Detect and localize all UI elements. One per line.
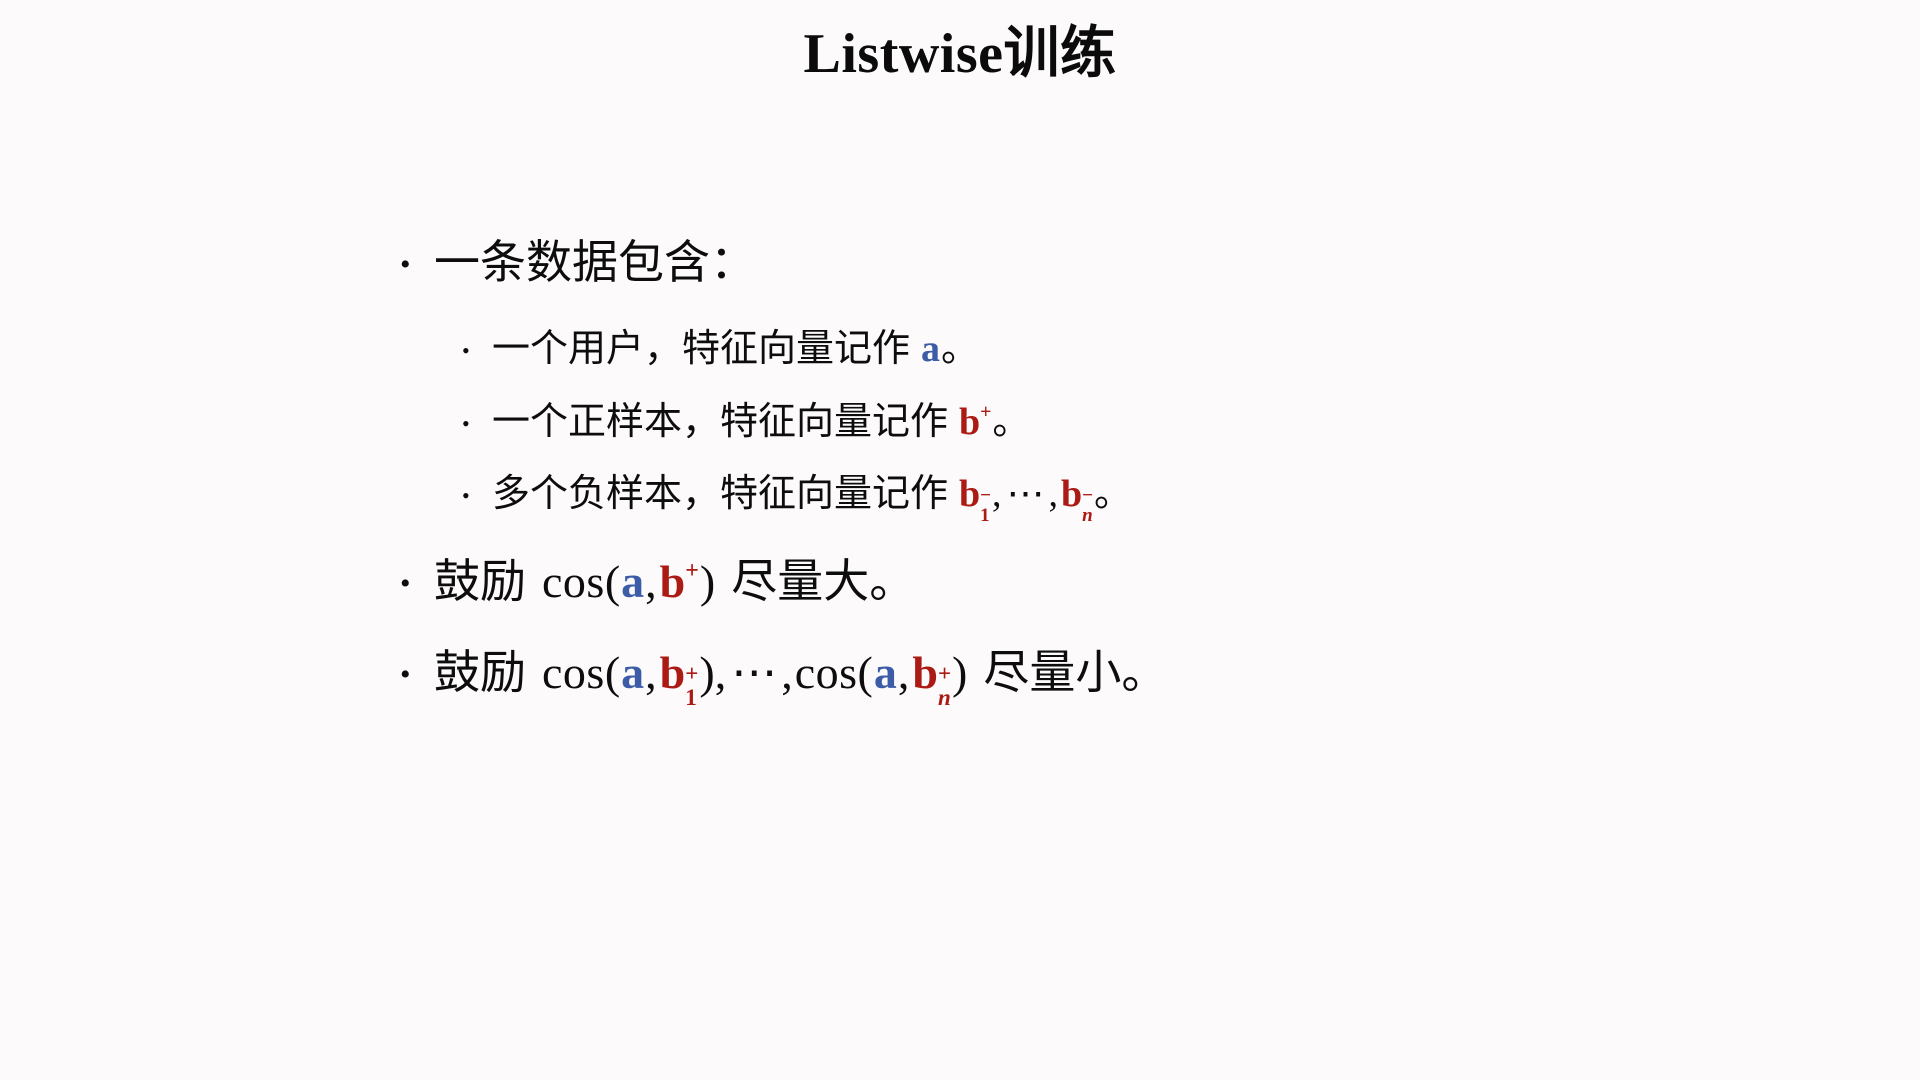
cos-function-label: cos bbox=[542, 647, 605, 698]
cos-function-label: cos bbox=[542, 556, 605, 607]
vector-b-positive-symbol: b+ bbox=[958, 401, 992, 443]
bullet-text: 一个正样本，特征向量记作b+。 bbox=[492, 397, 1030, 448]
sub-bullet-1-suffix: 。 bbox=[941, 328, 979, 370]
slide-root: Listwise训练 • 一条数据包含： • 一个用户，特征向量记作a。 • 一… bbox=[0, 0, 1920, 1080]
vector-b-negative-n-symbol: b−n bbox=[1060, 473, 1094, 515]
list-item: • 一个正样本，特征向量记作b+。 bbox=[462, 397, 1820, 448]
sub-bullet-2-suffix: 。 bbox=[992, 401, 1030, 443]
vector-b-base: b bbox=[660, 556, 686, 607]
close-paren: ) bbox=[952, 647, 967, 698]
separator-comma: , bbox=[781, 647, 795, 698]
superscript-plus: + bbox=[980, 401, 991, 423]
list-item: • 一条数据包含： bbox=[400, 232, 1820, 294]
vector-b-positive-n-symbol: b+n bbox=[911, 647, 952, 698]
subscript-index: n bbox=[1082, 507, 1093, 525]
bullet-text: 鼓励cos(a,b+1),⋯,cos(a,b+n)尽量小。 bbox=[434, 642, 1167, 714]
bullet-dot-icon: • bbox=[400, 551, 434, 599]
vector-b-base: b bbox=[959, 473, 980, 515]
separator-comma: , bbox=[715, 647, 729, 698]
vector-b-positive-symbol: b+ bbox=[659, 556, 700, 607]
list-item: • 鼓励cos(a,b+1),⋯,cos(a,b+n)尽量小。 bbox=[400, 642, 1820, 714]
bullet-dot-icon: • bbox=[462, 397, 492, 435]
bullet-3-suffix: 尽量小。 bbox=[983, 647, 1167, 698]
sub-bullet-3-suffix: 。 bbox=[1094, 473, 1132, 515]
separator-comma: , bbox=[898, 647, 912, 698]
vector-b-base: b bbox=[959, 401, 980, 443]
superscript-plus: + bbox=[685, 663, 698, 685]
bullet-text: 一条数据包含： bbox=[434, 232, 756, 294]
list-item: • 鼓励cos(a,b+)尽量大。 bbox=[400, 551, 1820, 613]
sub-bullet-2-prefix: 一个正样本，特征向量记作 bbox=[492, 401, 948, 443]
open-paren: ( bbox=[605, 556, 620, 607]
separator-comma: , bbox=[1048, 473, 1060, 515]
vector-a-symbol: a bbox=[920, 328, 941, 370]
subsup-group: +n bbox=[938, 663, 951, 707]
sub-bullet-1-prefix: 一个用户，特征向量记作 bbox=[492, 328, 910, 370]
vector-b-negative-1-symbol: b−1 bbox=[958, 473, 992, 515]
bullet-1-label: 一条数据包含： bbox=[434, 237, 756, 288]
open-paren: ( bbox=[605, 647, 620, 698]
subsup-group: −1 bbox=[980, 487, 991, 523]
superscript-minus: − bbox=[1082, 487, 1093, 505]
close-paren: ) bbox=[699, 647, 714, 698]
vector-b-base: b bbox=[912, 647, 938, 698]
subscript-index: 1 bbox=[980, 507, 991, 525]
superscript-minus: − bbox=[980, 487, 991, 505]
separator-comma: , bbox=[645, 647, 659, 698]
vector-b-base: b bbox=[1061, 473, 1082, 515]
separator-comma: , bbox=[645, 556, 659, 607]
vector-b-base: b bbox=[660, 647, 686, 698]
subsup-group: −n bbox=[1082, 487, 1093, 523]
bullet-text: 一个用户，特征向量记作a。 bbox=[492, 324, 979, 375]
open-paren: ( bbox=[858, 647, 873, 698]
bullet-2-prefix: 鼓励 bbox=[434, 556, 526, 607]
vector-a-symbol: a bbox=[620, 647, 645, 698]
vector-b-positive-1-symbol: b+1 bbox=[659, 647, 700, 698]
vector-a-symbol: a bbox=[620, 556, 645, 607]
superscript-plus: + bbox=[938, 663, 951, 685]
list-item: • 一个用户，特征向量记作a。 bbox=[462, 324, 1820, 375]
bullet-2-suffix: 尽量大。 bbox=[731, 556, 915, 607]
vector-a-symbol: a bbox=[873, 647, 898, 698]
bullet-dot-icon: • bbox=[462, 469, 492, 507]
cos-function-label: cos bbox=[795, 647, 858, 698]
separator-comma: , bbox=[992, 473, 1004, 515]
bullet-dot-icon: • bbox=[462, 324, 492, 362]
page-title: Listwise训练 bbox=[0, 24, 1920, 86]
sub-bullet-list: • 一个用户，特征向量记作a。 • 一个正样本，特征向量记作b+。 • 多个负样… bbox=[400, 324, 1820, 529]
bullet-3-prefix: 鼓励 bbox=[434, 647, 526, 698]
sub-bullet-3-prefix: 多个负样本，特征向量记作 bbox=[492, 473, 948, 515]
bullet-text: 鼓励cos(a,b+)尽量大。 bbox=[434, 551, 915, 613]
superscript-plus: + bbox=[685, 558, 699, 584]
subsup-group: +1 bbox=[685, 663, 698, 707]
close-paren: ) bbox=[700, 556, 715, 607]
list-item: • 多个负样本，特征向量记作b−1,⋯,b−n。 bbox=[462, 469, 1820, 528]
bullet-text: 多个负样本，特征向量记作b−1,⋯,b−n。 bbox=[492, 469, 1132, 528]
ellipsis-glyph: ⋯ bbox=[728, 647, 781, 698]
ellipsis-glyph: ⋯ bbox=[1003, 473, 1048, 515]
subscript-index: 1 bbox=[685, 687, 698, 709]
bullet-list: • 一条数据包含： • 一个用户，特征向量记作a。 • 一个正样本，特征向量记作… bbox=[400, 232, 1820, 744]
bullet-dot-icon: • bbox=[400, 642, 434, 690]
subscript-index: n bbox=[938, 687, 951, 709]
bullet-dot-icon: • bbox=[400, 232, 434, 280]
